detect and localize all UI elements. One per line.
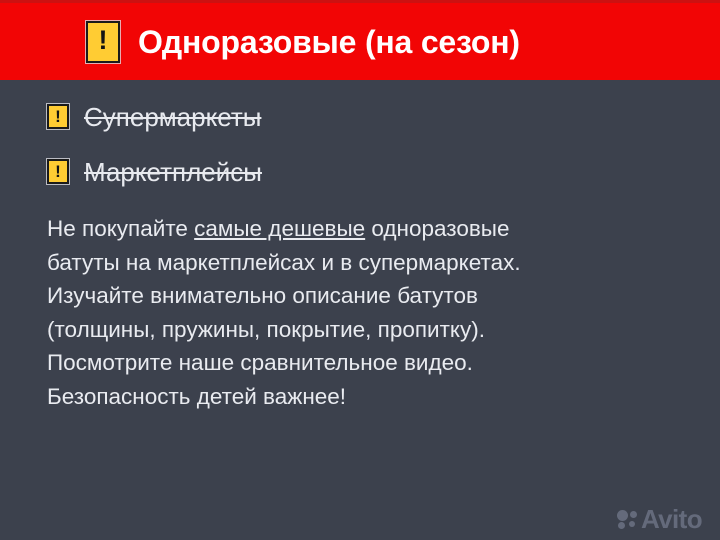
- paragraph-text: одноразовые: [365, 216, 509, 241]
- page-title: Одноразовые (на сезон): [138, 26, 520, 58]
- warning-list: ! Супермаркеты ! Маркетплейсы: [47, 102, 680, 186]
- warning-exclamation-icon: !: [47, 104, 69, 129]
- avito-logo-icon: [617, 510, 638, 529]
- avito-watermark: Avito: [617, 506, 702, 532]
- warning-exclamation-icon: !: [47, 159, 69, 184]
- paragraph-line: Не покупайте самые дешевые одноразовые: [47, 212, 680, 246]
- content-area: ! Супермаркеты ! Маркетплейсы Не покупай…: [0, 80, 720, 540]
- paragraph-line: батуты на маркетплейсах и в супермаркета…: [47, 246, 680, 280]
- paragraph-line: Безопасность детей важнее!: [47, 380, 680, 414]
- list-item-label: Маркетплейсы: [84, 159, 262, 185]
- warning-exclamation-icon: !: [86, 21, 120, 63]
- paragraph-text: Не покупайте: [47, 216, 194, 241]
- paragraph-line: Изучайте внимательно описание батутов: [47, 279, 680, 313]
- paragraph-line: Посмотрите наше сравнительное видео.: [47, 346, 680, 380]
- list-item: ! Супермаркеты: [47, 102, 680, 131]
- list-item-label: Супермаркеты: [84, 104, 261, 130]
- paragraph-underlined-phrase: самые дешевые: [194, 216, 365, 241]
- paragraph-line: (толщины, пружины, покрытие, пропитку).: [47, 313, 680, 347]
- header-banner: ! Одноразовые (на сезон): [0, 0, 720, 80]
- list-item: ! Маркетплейсы: [47, 157, 680, 186]
- body-paragraph: Не покупайте самые дешевые одноразовые б…: [47, 212, 680, 413]
- avito-wordmark: Avito: [641, 506, 702, 532]
